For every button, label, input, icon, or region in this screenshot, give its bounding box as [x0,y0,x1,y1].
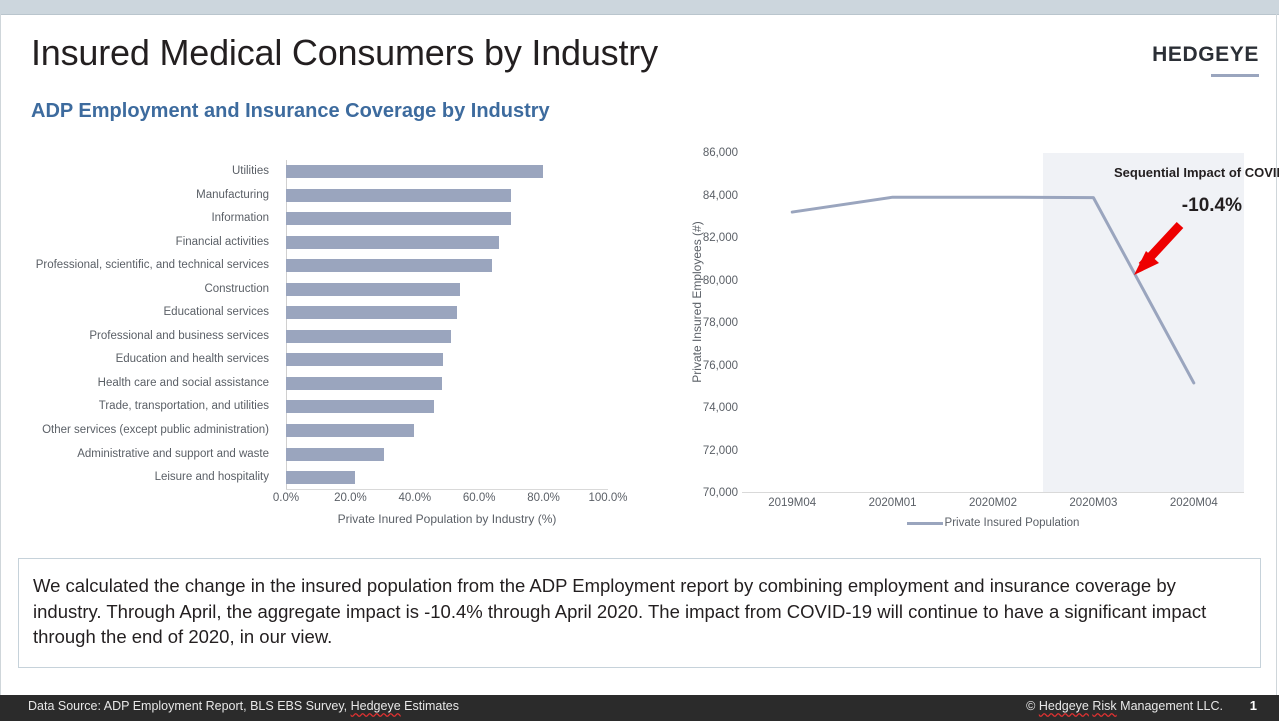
bar-category-label: Construction [0,278,278,302]
bar-row [286,160,608,184]
line-x-tick: 2020M02 [969,497,1017,509]
bar [286,330,451,343]
hedgeye-logo: HEDGEYE [1152,43,1259,77]
footer-copyright: © Hedgeye Risk Management LLC. [1026,699,1223,713]
logo-text: HEDGEYE [1152,43,1259,67]
bar [286,212,511,225]
bar-x-tick: 100.0% [588,492,627,504]
bar-chart-x-ticks: 0.0%20.0%40.0%60.0%80.0%100.0% [286,492,608,508]
bar [286,377,442,390]
bar-category-label: Educational services [0,301,278,325]
copyright-tail: Management LLC. [1117,699,1223,713]
bar-category-label: Professional and business services [0,325,278,349]
bar-chart-x-axis-title: Private Inured Population by Industry (%… [286,512,608,526]
bar-category-label: Health care and social assistance [0,372,278,396]
bar-category-label: Trade, transportation, and utilities [0,395,278,419]
bar-category-label: Manufacturing [0,184,278,208]
copyright-icon: © [1026,699,1039,713]
line-x-tick: 2020M04 [1170,497,1218,509]
bar [286,306,457,319]
page-title: Insured Medical Consumers by Industry [31,32,658,74]
line-chart-svg [742,153,1244,493]
bar [286,189,511,202]
bar-row [286,301,608,325]
line-y-tick: 70,000 [703,487,738,499]
bar-row [286,419,608,443]
slide: Insured Medical Consumers by Industry AD… [0,0,1279,721]
bar [286,400,434,413]
footer-source: Data Source: ADP Employment Report, BLS … [28,699,459,713]
bar-x-tick: 60.0% [463,492,496,504]
bar-x-tick: 40.0% [398,492,431,504]
bar-row [286,278,608,302]
line-y-tick: 80,000 [703,275,738,287]
commentary-text: We calculated the change in the insured … [19,559,1260,650]
line-chart: Private Insured Employees (#) 70,00072,0… [660,145,1260,545]
bar [286,448,384,461]
bar-row [286,184,608,208]
bar-row [286,395,608,419]
logo-rule [1211,74,1259,77]
bar [286,471,355,484]
bar-chart: UtilitiesManufacturingInformationFinanci… [0,150,650,540]
bar-category-label: Financial activities [0,231,278,255]
bar [286,259,492,272]
bar-row [286,207,608,231]
page-number: 1 [1250,698,1257,713]
impact-value-label: -10.4% [1182,195,1242,217]
bar-category-label: Administrative and support and waste [0,443,278,467]
bar-x-tick: 20.0% [334,492,367,504]
bar-category-label: Education and health services [0,348,278,372]
bar-category-label: Other services (except public administra… [0,419,278,443]
line-y-tick: 82,000 [703,232,738,244]
bar-row [286,348,608,372]
bar-category-label: Utilities [0,160,278,184]
footer-source-suffix: Estimates [401,699,459,713]
bar-category-label: Leisure and hospitality [0,466,278,490]
bar [286,165,543,178]
top-accent-bar [0,0,1279,15]
bar-chart-bars [286,160,608,490]
copyright-brand: Hedgeye [1039,699,1089,713]
bar-category-label: Information [0,207,278,231]
commentary-box: We calculated the change in the insured … [18,558,1261,668]
bar-row [286,372,608,396]
line-chart-legend: Private Insured Population [742,517,1244,529]
line-chart-x-axis-line [742,492,1244,493]
line-chart-plot: Sequential Impact of COVID-19 -10.4% [742,153,1244,493]
bar-row [286,443,608,467]
bar-chart-x-axis-line [286,489,608,490]
footer-source-prefix: Data Source: ADP Employment Report, BLS … [28,699,351,713]
bar-chart-plot [286,160,608,490]
line-chart-x-ticks: 2019M042020M012020M022020M032020M04 [742,497,1244,513]
bar-row [286,466,608,490]
bar [286,353,443,366]
line-y-tick: 74,000 [703,402,738,414]
line-y-tick: 76,000 [703,360,738,372]
line-x-tick: 2020M03 [1069,497,1117,509]
bar-row [286,231,608,255]
bar [286,424,414,437]
bar-x-tick: 80.0% [527,492,560,504]
footer: Data Source: ADP Employment Report, BLS … [0,695,1279,721]
legend-label: Private Insured Population [945,517,1080,529]
legend-swatch-icon [907,522,943,525]
bar-row [286,254,608,278]
line-x-tick: 2019M04 [768,497,816,509]
line-y-tick: 72,000 [703,445,738,457]
bar [286,283,460,296]
covid-region-label: Sequential Impact of COVID-19 [1114,165,1279,180]
line-y-tick: 86,000 [703,147,738,159]
bar-row [286,325,608,349]
bar-x-tick: 0.0% [273,492,299,504]
bar-chart-category-labels: UtilitiesManufacturingInformationFinanci… [0,160,278,490]
footer-source-brand: Hedgeye [351,699,401,713]
line-chart-y-ticks: 70,00072,00074,00076,00078,00080,00082,0… [680,145,738,490]
red-arrow-icon [1134,225,1180,275]
copyright-risk: Risk [1092,699,1116,713]
page-subtitle: ADP Employment and Insurance Coverage by… [31,100,550,123]
bar [286,236,499,249]
line-x-tick: 2020M01 [869,497,917,509]
line-y-tick: 84,000 [703,190,738,202]
line-y-tick: 78,000 [703,317,738,329]
bar-category-label: Professional, scientific, and technical … [0,254,278,278]
